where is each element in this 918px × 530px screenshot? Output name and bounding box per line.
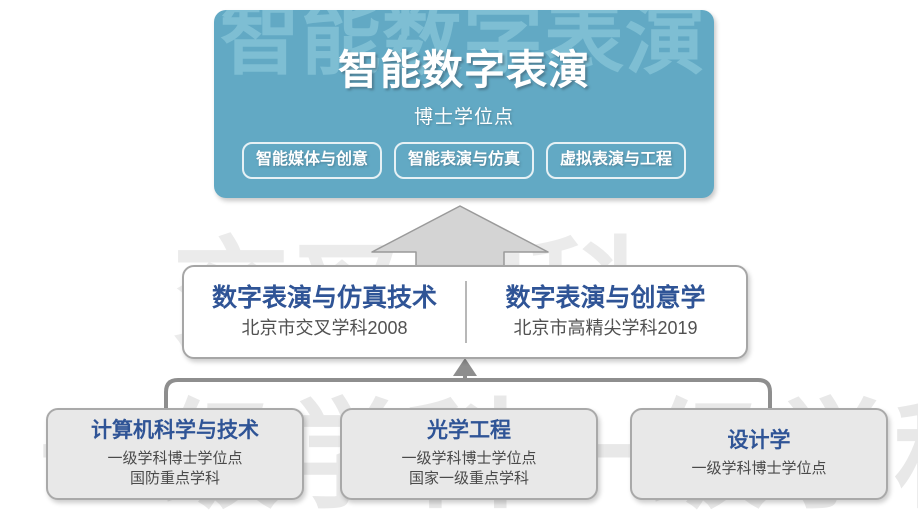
big-up-arrow-icon: [372, 206, 548, 268]
discipline-title: 计算机科学与技术: [91, 419, 259, 442]
mid-column-simulation[interactable]: 数字表演与仿真技术 北京市交叉学科2008: [184, 267, 465, 357]
discipline-title: 光学工程: [427, 419, 511, 442]
direction-pill-virtual-performance[interactable]: 虚拟表演与工程: [546, 142, 686, 179]
interdisciplinary-card[interactable]: 数字表演与仿真技术 北京市交叉学科2008 数字表演与创意学 北京市高精尖学科2…: [182, 265, 748, 359]
mid-column-title: 数字表演与创意学: [505, 285, 705, 313]
direction-pill-intelligent-media[interactable]: 智能媒体与创意: [242, 142, 382, 179]
bracket-connector: [166, 380, 770, 408]
doctoral-program-card[interactable]: 智能数字表演 智能数字表演 博士学位点 智能媒体与创意 智能表演与仿真 虚拟表演…: [214, 10, 714, 198]
mid-column-subtitle: 北京市高精尖学科2019: [513, 319, 697, 339]
discipline-title: 设计学: [728, 429, 791, 452]
discipline-subtitle-line: 一级学科博士学位点: [691, 459, 826, 479]
discipline-card-optical-engineering[interactable]: 光学工程 一级学科博士学位点 国家一级重点学科: [340, 408, 598, 500]
doctoral-degree-subtitle: 博士学位点: [214, 102, 714, 129]
discipline-subtitle-line: 国防重点学科: [107, 469, 242, 489]
discipline-subtitle: 一级学科博士学位点: [691, 459, 826, 479]
discipline-card-design[interactable]: 设计学 一级学科博士学位点: [630, 408, 888, 500]
mid-column-title: 数字表演与仿真技术: [212, 285, 437, 313]
discipline-subtitle-line: 一级学科博士学位点: [107, 449, 242, 469]
discipline-subtitle: 一级学科博士学位点 国家一级重点学科: [401, 449, 536, 490]
discipline-subtitle-line: 国家一级重点学科: [401, 469, 536, 489]
mid-column-creative[interactable]: 数字表演与创意学 北京市高精尖学科2019: [465, 267, 746, 357]
direction-pill-group: 智能媒体与创意 智能表演与仿真 虚拟表演与工程: [214, 142, 714, 179]
page-title: 智能数字表演: [214, 36, 714, 96]
discipline-subtitle: 一级学科博士学位点 国防重点学科: [107, 449, 242, 490]
discipline-subtitle-line: 一级学科博士学位点: [401, 449, 536, 469]
thin-up-arrow-icon: [453, 358, 477, 376]
discipline-card-computer-science[interactable]: 计算机科学与技术 一级学科博士学位点 国防重点学科: [46, 408, 304, 500]
diagram-canvas: 交叉学科 一级学科一级学科 智能数字表演 智能数字表演 博士学位点 智能媒体与创…: [0, 0, 918, 530]
direction-pill-intelligent-performance[interactable]: 智能表演与仿真: [394, 142, 534, 179]
mid-column-subtitle: 北京市交叉学科2008: [241, 319, 407, 339]
